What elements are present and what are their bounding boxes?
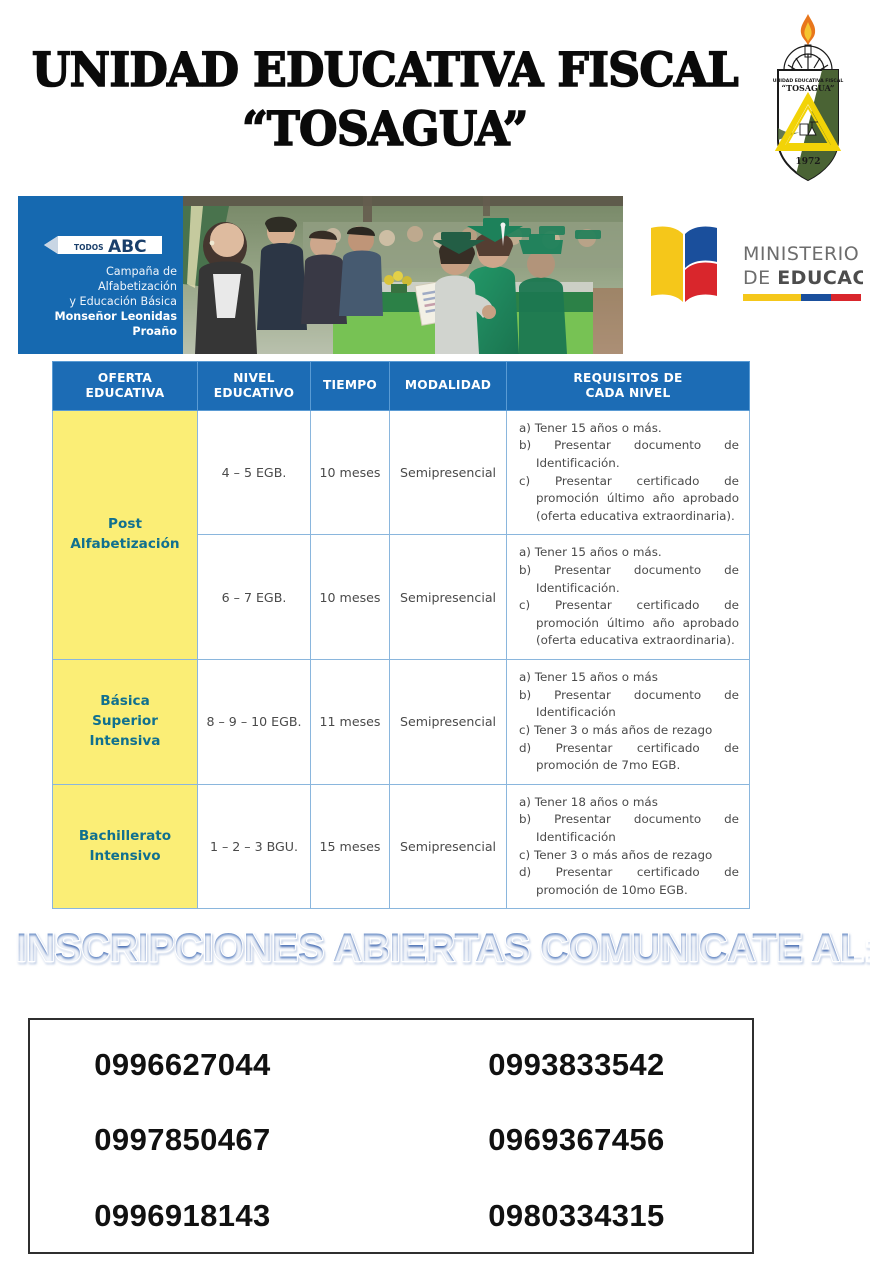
crest-year: 1972 xyxy=(795,157,820,167)
phone-numbers-grid: 0996627044 0993833542 0997850467 0969367… xyxy=(30,1020,752,1252)
phone-number[interactable]: 0997850467 xyxy=(30,1122,391,1158)
graduation-ceremony-photo xyxy=(183,196,623,354)
tiempo-cell: 10 meses xyxy=(311,535,390,660)
tiempo-cell: 10 meses xyxy=(311,410,390,535)
page-title: UNIDAD EDUCATIVA FISCAL “TOSAGUA” xyxy=(0,46,770,156)
table-row: Post Alfabetización 4 – 5 EGB. 10 meses … xyxy=(53,410,750,535)
requisito-item: b) Presentar documento de Identificación… xyxy=(519,437,739,472)
todos-abc-logo-icon: TODOS ABC xyxy=(44,232,162,258)
requisito-item: a) Tener 15 años o más. xyxy=(519,544,739,562)
phone-number[interactable]: 0996918143 xyxy=(30,1196,391,1234)
phone-number[interactable]: 0993833542 xyxy=(391,1047,752,1083)
phone-number[interactable]: 0969367456 xyxy=(391,1122,752,1158)
category-cell-post-alfabetizacion: Post Alfabetización xyxy=(53,410,198,659)
tiempo-cell: 15 meses xyxy=(311,784,390,909)
ministry-of-education-logo-icon: MINISTERIO DE EDUCACIÓN xyxy=(645,218,863,310)
category-cell-bachillerato-intensivo: Bachillerato Intensivo xyxy=(53,784,198,909)
nivel-cell: 6 – 7 EGB. xyxy=(198,535,311,660)
requisito-item: a) Tener 15 años o más xyxy=(519,669,739,687)
column-header-tiempo: TIEMPO xyxy=(311,362,390,411)
nivel-cell: 8 – 9 – 10 EGB. xyxy=(198,660,311,785)
requisito-item: b) Presentar documento de Identificación… xyxy=(519,562,739,597)
requisito-item: d) Presentar certificado de promoción de… xyxy=(519,864,739,899)
requisitos-list: a) Tener 15 años o más. b) Presentar doc… xyxy=(519,420,739,526)
tiempo-cell: 11 meses xyxy=(311,660,390,785)
modalidad-cell: Semipresencial xyxy=(390,784,507,909)
requisitos-cell: a) Tener 15 años o más. b) Presentar doc… xyxy=(507,410,750,535)
todos-label: TODOS xyxy=(74,243,104,252)
call-to-action-text: INSCRIPCIONES ABIERTAS COMUNICATE AL: xyxy=(16,926,854,971)
column-header-oferta-educativa: OFERTA EDUCATIVA xyxy=(53,362,198,411)
requisitos-cell: a) Tener 18 años o más b) Presentar docu… xyxy=(507,784,750,909)
requisitos-cell: a) Tener 15 años o más. b) Presentar doc… xyxy=(507,535,750,660)
education-offer-table: OFERTA EDUCATIVA NIVEL EDUCATIVO TIEMPO … xyxy=(52,361,750,909)
requisito-item: a) Tener 18 años o más xyxy=(519,794,739,812)
column-header-requisitos: REQUISITOS DE CADA NIVEL xyxy=(507,362,750,411)
ministry-of-education-panel: MINISTERIO DE EDUCACIÓN xyxy=(623,196,852,354)
table-body: Post Alfabetización 4 – 5 EGB. 10 meses … xyxy=(53,410,750,909)
phone-numbers-box: 0996627044 0993833542 0997850467 0969367… xyxy=(28,1018,754,1254)
column-header-nivel-educativo: NIVEL EDUCATIVO xyxy=(198,362,311,411)
nivel-cell: 1 – 2 – 3 BGU. xyxy=(198,784,311,909)
abc-label: ABC xyxy=(108,237,147,257)
requisito-item: c) Presentar certificado de promoción úl… xyxy=(519,473,739,526)
category-cell-basica-superior-intensiva: Básica Superior Intensiva xyxy=(53,660,198,785)
requisito-item: d) Presentar certificado de promoción de… xyxy=(519,740,739,775)
title-line-2: “TOSAGUA” xyxy=(0,105,785,156)
phone-number[interactable]: 0980334315 xyxy=(391,1196,752,1234)
ministry-line-1: MINISTERIO xyxy=(743,243,859,265)
requisitos-cell: a) Tener 15 años o más b) Presentar docu… xyxy=(507,660,750,785)
abc-caption-line3: Monseñor Leonidas Proaño xyxy=(24,309,177,339)
todos-abc-panel: TODOS ABC Campaña de Alfabetización y Ed… xyxy=(18,196,183,354)
crest-institution-line2: “TOSAGUA” xyxy=(782,83,835,93)
table-row: Básica Superior Intensiva 8 – 9 – 10 EGB… xyxy=(53,660,750,785)
requisito-item: c) Presentar certificado de promoción úl… xyxy=(519,597,739,650)
banner-strip: TODOS ABC Campaña de Alfabetización y Ed… xyxy=(18,196,852,354)
requisito-item: a) Tener 15 años o más. xyxy=(519,420,739,438)
modalidad-cell: Semipresencial xyxy=(390,410,507,535)
phone-number[interactable]: 0996627044 xyxy=(30,1047,391,1083)
school-crest-icon: UNIDAD EDUCATIVA FISCAL “TOSAGUA” 1972 xyxy=(762,8,854,188)
requisito-item: c) Tener 3 o más años de rezago xyxy=(519,847,739,865)
requisitos-list: a) Tener 15 años o más. b) Presentar doc… xyxy=(519,544,739,650)
requisitos-list: a) Tener 15 años o más b) Presentar docu… xyxy=(519,669,739,775)
abc-caption-line1: Campaña de Alfabetización xyxy=(24,264,177,294)
table-header-row: OFERTA EDUCATIVA NIVEL EDUCATIVO TIEMPO … xyxy=(53,362,750,411)
requisito-item: c) Tener 3 o más años de rezago xyxy=(519,722,739,740)
table-row: Bachillerato Intensivo 1 – 2 – 3 BGU. 15… xyxy=(53,784,750,909)
modalidad-cell: Semipresencial xyxy=(390,660,507,785)
requisito-item: b) Presentar documento de Identificación xyxy=(519,811,739,846)
requisitos-list: a) Tener 18 años o más b) Presentar docu… xyxy=(519,794,739,900)
column-header-modalidad: MODALIDAD xyxy=(390,362,507,411)
title-line-1: UNIDAD EDUCATIVA FISCAL xyxy=(0,46,785,97)
modalidad-cell: Semipresencial xyxy=(390,535,507,660)
requisito-item: b) Presentar documento de Identificación xyxy=(519,687,739,722)
nivel-cell: 4 – 5 EGB. xyxy=(198,410,311,535)
ministry-line-2: DE EDUCACIÓN xyxy=(743,265,863,289)
abc-caption: Campaña de Alfabetización y Educación Bá… xyxy=(24,264,177,340)
abc-caption-line2: y Educación Básica xyxy=(24,294,177,309)
table-header: OFERTA EDUCATIVA NIVEL EDUCATIVO TIEMPO … xyxy=(53,362,750,411)
